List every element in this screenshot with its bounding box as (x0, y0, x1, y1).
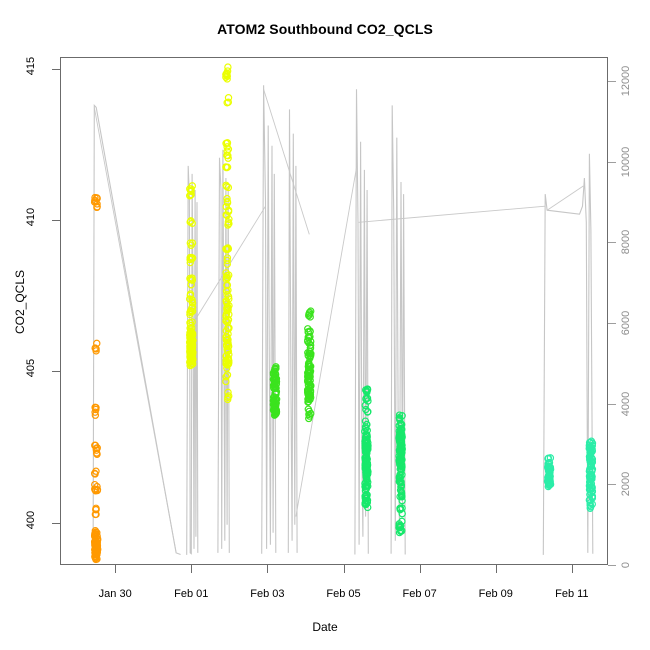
plot-frame (60, 57, 608, 565)
x-axis-tick (115, 565, 116, 573)
y2-axis-tick-label: 6000 (620, 311, 632, 335)
x-axis-tick-label: Feb 09 (479, 588, 513, 600)
page-title: ATOM2 Southbound CO2_QCLS (0, 21, 650, 37)
y-axis-tick (52, 371, 60, 372)
y2-axis-tick (608, 565, 616, 566)
y2-axis-tick (608, 323, 616, 324)
x-axis-tick-label: Feb 07 (403, 588, 437, 600)
x-axis-tick (344, 565, 345, 573)
y2-axis-tick (608, 484, 616, 485)
y2-axis-tick (608, 81, 616, 82)
x-axis-tick (267, 565, 268, 573)
y2-axis-tick-label: 12000 (620, 66, 632, 97)
y-axis-tick-label: 400 (25, 507, 37, 533)
x-axis-tick-label: Feb 03 (250, 588, 284, 600)
y-axis-tick-label: 405 (25, 355, 37, 381)
x-axis-tick-label: Feb 01 (174, 588, 208, 600)
y2-axis-tick-label: 10000 (620, 147, 632, 178)
y-axis-tick-label: 415 (25, 53, 37, 79)
y2-axis-tick (608, 404, 616, 405)
x-axis-tick (420, 565, 421, 573)
x-axis-tick (496, 565, 497, 573)
y-axis-tick (52, 69, 60, 70)
y2-axis-tick-label: 8000 (620, 230, 632, 254)
x-axis-label: Date (0, 620, 650, 634)
y-axis-tick (52, 220, 60, 221)
y2-axis-tick-label: 0 (620, 562, 632, 568)
y-axis-tick (52, 523, 60, 524)
x-axis-tick-label: Jan 30 (99, 588, 132, 600)
x-axis-tick-label: Feb 05 (326, 588, 360, 600)
y2-axis-tick (608, 242, 616, 243)
x-axis-tick-label: Feb 11 (555, 588, 588, 600)
y2-axis-tick-label: 2000 (620, 472, 632, 496)
y2-axis-tick (608, 162, 616, 163)
plot-canvas: ATOM2 Southbound CO2_QCLS CO2_QCLS Date … (0, 0, 650, 650)
x-axis-tick (572, 565, 573, 573)
y2-axis-tick-label: 4000 (620, 391, 632, 415)
x-axis-tick (191, 565, 192, 573)
y-axis-tick-label: 410 (25, 204, 37, 230)
